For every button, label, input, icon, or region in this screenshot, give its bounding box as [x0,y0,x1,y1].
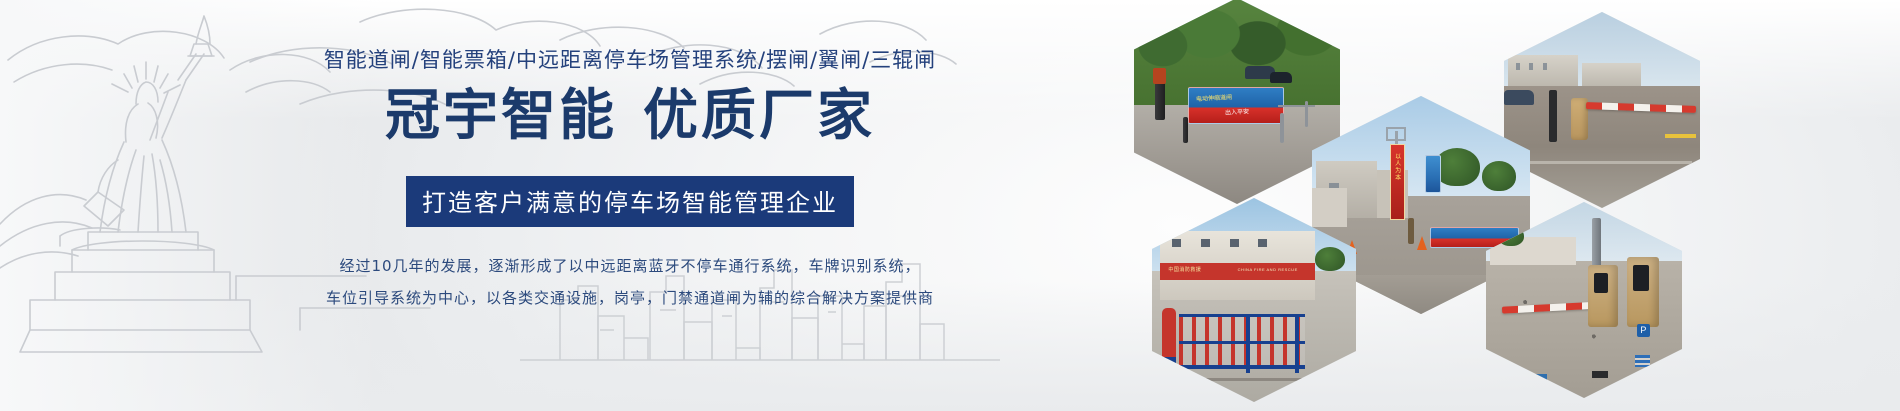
photo-caption-main: 中国消防救援 [1168,266,1201,273]
kicker-text: 智能道闸/智能票箱/中远距离停车场管理系统/摆闸/翼闸/三辊闸 [300,44,960,74]
photo-caption-main: 以人为本 [1393,153,1402,181]
photo-caption-main: 电动伸缩道闸 [1196,92,1232,103]
headline-left: 冠宇智能 [385,83,617,147]
headline-copy-block: 智能道闸/智能票箱/中远距离停车场管理系统/摆闸/翼闸/三辊闸 冠宇智能优质厂家… [300,0,960,411]
description-paragraph: 经过10几年的发展，逐渐形成了以中远距离蓝牙不停车通行系统，车牌识别系统， 车位… [270,250,990,314]
tagline-strip: 打造客户满意的停车场智能管理企业 [406,176,854,227]
page-title: 冠宇智能优质厂家 [300,84,960,147]
tagline-strip-wrapper: 打造客户满意的停车场智能管理企业 [300,176,960,227]
promo-banner: 智能道闸/智能票箱/中远距离停车场管理系统/摆闸/翼闸/三辊闸 冠宇智能优质厂家… [0,0,1900,411]
description-line-1: 经过10几年的发展，逐渐形成了以中远距离蓝牙不停车通行系统，车牌识别系统， [339,257,920,275]
collage-photo-wooden-barrier-gate-open-lot [1504,12,1700,208]
photo-caption-sub: 出入平安 [1224,107,1248,117]
collage-photo-barrier-gate-with-advertising-banner: 电动伸缩道闸 出入平安 [1134,0,1340,204]
photo-caption-main: P [1637,324,1650,337]
headline-right: 优质厂家 [643,83,875,147]
description-line-2: 车位引导系统为中心，以各类交通设施，岗亭，门禁通道闸为辅的综合解决方案提供商 [270,282,990,314]
photo-caption-sub: CHINA FIRE AND RESCUE [1238,267,1298,272]
hexagon-photo-collage: 电动伸缩道闸 出入平安 [1130,0,1650,411]
